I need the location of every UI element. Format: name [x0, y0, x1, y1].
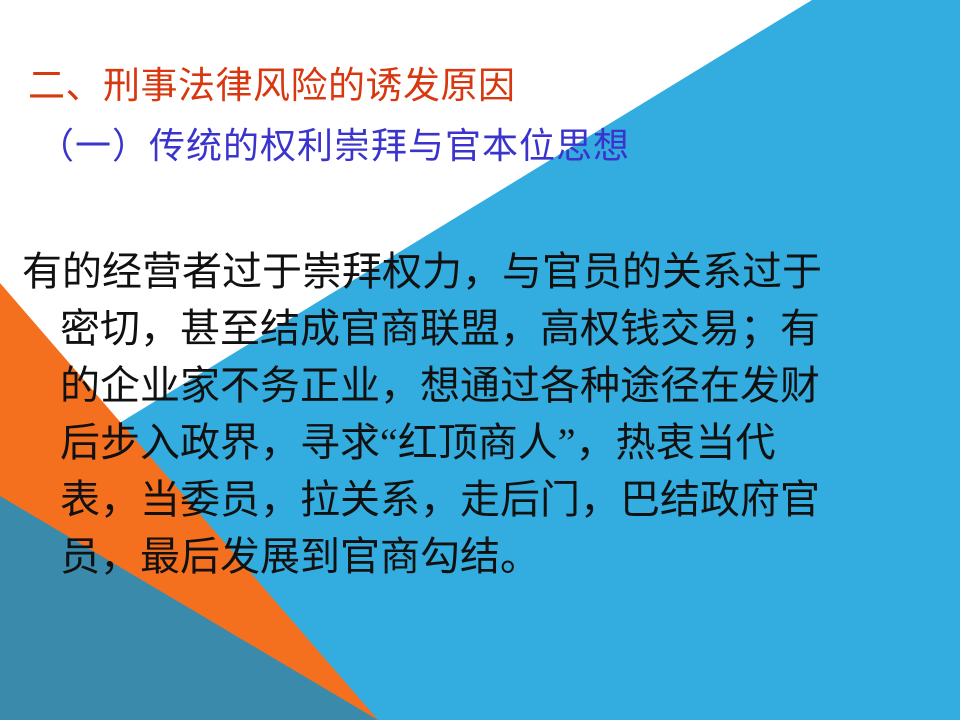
slide-heading-group: 二、刑事法律风险的诱发原因 （一）传统的权利崇拜与官本位思想 [0, 62, 960, 172]
body-line: 后步入政界，寻求“红顶商人”，热衷当代 [22, 414, 930, 471]
body-line: 有的经营者过于崇拜权力，与官员的关系过于 [22, 243, 930, 300]
slide-body: 有的经营者过于崇拜权力，与官员的关系过于 密切，甚至结成官商联盟，高权钱交易；有… [22, 243, 930, 585]
body-paragraph: 有的经营者过于崇拜权力，与官员的关系过于 密切，甚至结成官商联盟，高权钱交易；有… [22, 243, 930, 585]
body-line: 的企业家不务正业，想通过各种途径在发财 [22, 357, 930, 414]
presentation-slide: 二、刑事法律风险的诱发原因 （一）传统的权利崇拜与官本位思想 有的经营者过于崇拜… [0, 0, 960, 720]
body-line: 表，当委员，拉关系，走后门，巴结政府官 [22, 471, 930, 528]
body-line: 密切，甚至结成官商联盟，高权钱交易；有 [22, 300, 930, 357]
body-line: 员，最后发展到官商勾结。 [22, 528, 930, 585]
slide-content: 二、刑事法律风险的诱发原因 （一）传统的权利崇拜与官本位思想 有的经营者过于崇拜… [0, 0, 960, 720]
slide-subtitle: （一）传统的权利崇拜与官本位思想 [0, 112, 960, 172]
slide-title: 二、刑事法律风险的诱发原因 [0, 62, 960, 112]
